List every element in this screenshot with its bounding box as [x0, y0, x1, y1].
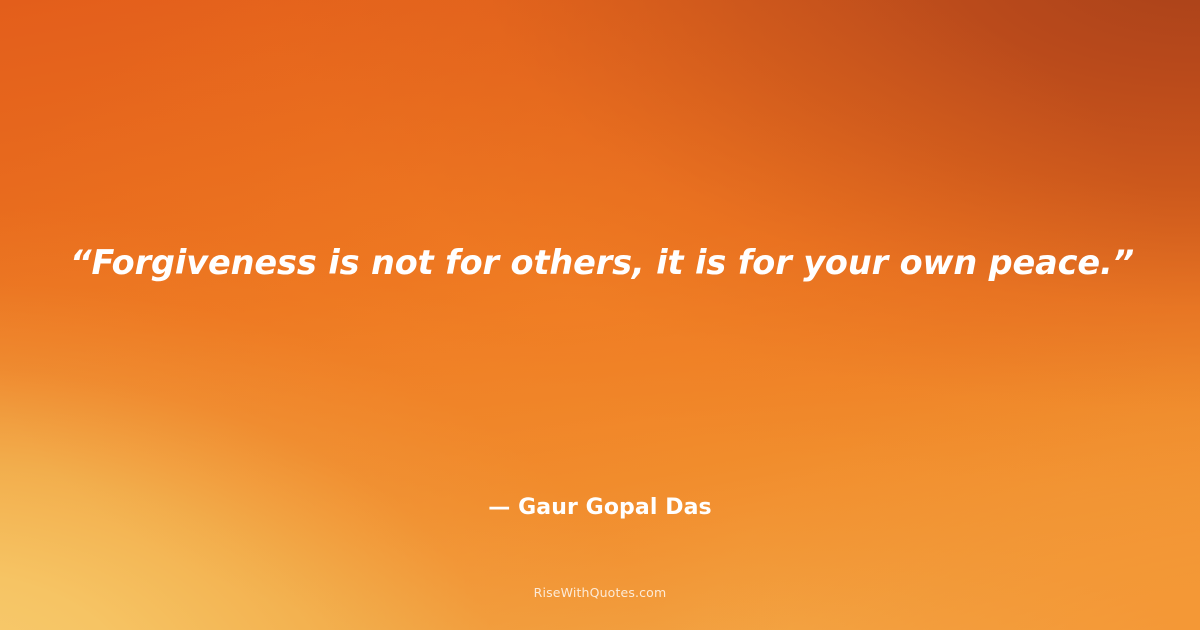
quote-text: “Forgiveness is not for others, it is fo… — [0, 241, 1200, 285]
quote-card-content: “Forgiveness is not for others, it is fo… — [0, 0, 1200, 630]
site-credit: RiseWithQuotes.com — [0, 584, 1200, 602]
quote-attribution: — Gaur Gopal Das — [0, 492, 1200, 524]
quote-card: “Forgiveness is not for others, it is fo… — [0, 0, 1200, 630]
